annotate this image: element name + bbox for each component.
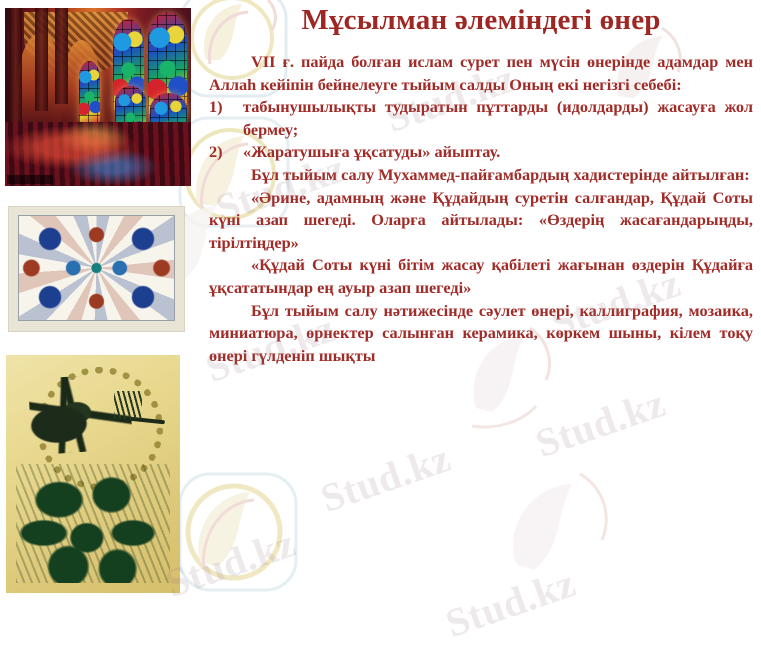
calligraphy-script-body [16, 464, 169, 583]
tile-ornament-field [18, 215, 175, 321]
slide-content: Мұсылман әлеміндегі өнер VII ғ. пайда бо… [207, 0, 755, 600]
page-title: Мұсылман әлеміндегі өнер [207, 0, 755, 37]
calligraphy-seal [114, 391, 142, 420]
paragraph-hadith-intro: Бұл тыйым салу Мухаммед-пайғамбардың хад… [209, 164, 753, 187]
stained-glass-window [79, 61, 99, 125]
iznik-tile-panel-photo [8, 206, 185, 332]
list-item: «Жаратушыға ұқсатуды» айыптау. [209, 141, 753, 164]
mosque-column [35, 8, 48, 111]
paragraph-conclusion: Бұл тыйым салу нәтижесінде сәулет өнері,… [209, 300, 753, 368]
mosque-interior-photo [5, 8, 191, 186]
mosque-column [55, 8, 68, 104]
photo-credit-tag [7, 175, 53, 184]
list-item: табынушылықты тудыратын пұттарды (идолда… [209, 96, 753, 141]
image-column [0, 0, 196, 600]
reasons-list: табынушылықты тудыратын пұттарды (идолда… [209, 96, 753, 164]
paragraph-hadith-two: «Құдай Соты күні бітім жасау қабілеті жа… [209, 254, 753, 299]
mosque-column [9, 8, 22, 125]
arabic-calligraphy-photo [6, 355, 180, 593]
slide-body: VII ғ. пайда болған ислам сурет пен мүсі… [207, 37, 755, 367]
paragraph-intro: VII ғ. пайда болған ислам сурет пен мүсі… [209, 51, 753, 96]
paragraph-hadith-one: «Әрине, адамның және Құдайдың суретін са… [209, 187, 753, 255]
